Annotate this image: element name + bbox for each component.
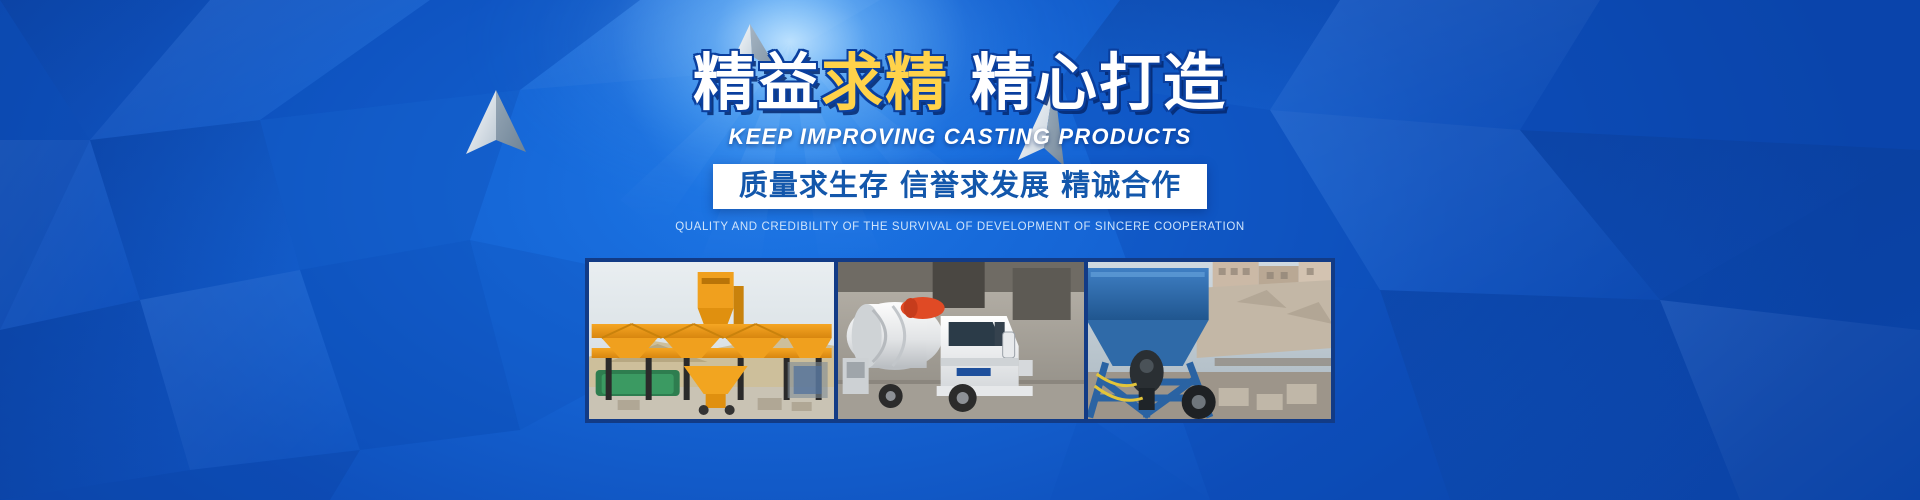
headline: 精益求精精心打造 xyxy=(693,52,1227,114)
headline-part-b: 求精 xyxy=(821,52,949,114)
promo-banner: 精益求精精心打造 KEEP IMPROVING CASTING PRODUCTS… xyxy=(0,0,1920,500)
english-tagline: KEEP IMPROVING CASTING PRODUCTS xyxy=(729,124,1192,150)
photo-concrete-batching-plant[interactable] xyxy=(589,262,834,419)
sub-caption: QUALITY AND CREDIBILITY OF THE SURVIVAL … xyxy=(675,221,1245,233)
headline-part-c: 精心打造 xyxy=(971,52,1227,114)
slogan-band-text: 质量求生存 信誉求发展 精诚合作 xyxy=(739,171,1181,200)
photo-strip xyxy=(585,258,1335,423)
photo-concrete-mixer-truck[interactable] xyxy=(838,262,1083,419)
photo-blue-batching-hopper[interactable] xyxy=(1088,262,1331,419)
headline-part-a: 精益 xyxy=(693,52,821,114)
slogan-band: 质量求生存 信誉求发展 精诚合作 xyxy=(713,164,1207,209)
